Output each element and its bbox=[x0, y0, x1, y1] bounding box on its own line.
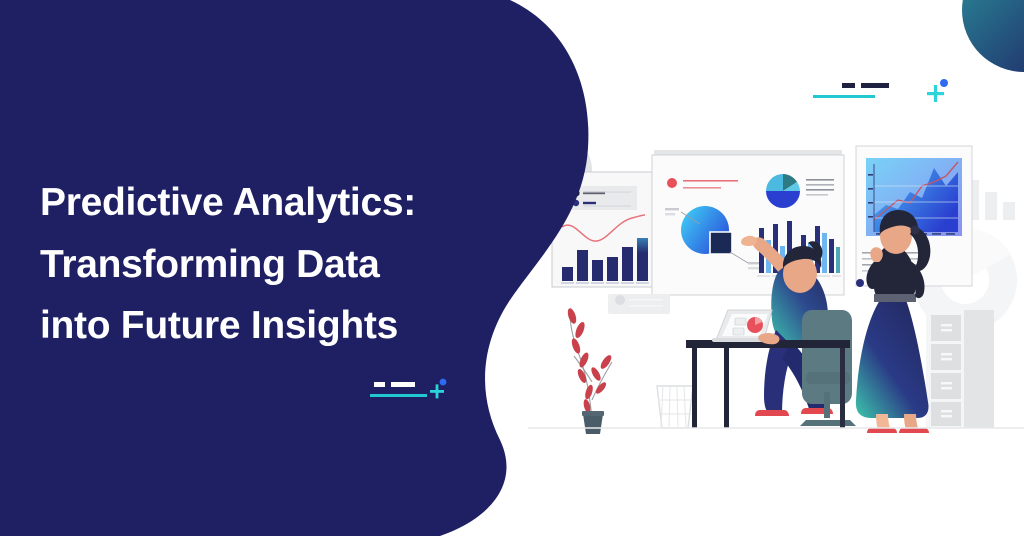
decoration-bottom-left bbox=[370, 379, 446, 399]
dot-icon bbox=[940, 79, 948, 87]
underline-icon bbox=[813, 95, 875, 98]
decoration-top-right bbox=[813, 79, 948, 102]
decoration-marks bbox=[0, 0, 1024, 536]
dash-short-icon bbox=[842, 83, 855, 88]
dash-long-icon bbox=[861, 83, 889, 88]
banner-root: Predictive Analytics: Transforming Data … bbox=[0, 0, 1024, 536]
plus-icon bbox=[430, 384, 444, 398]
dot-icon bbox=[440, 379, 447, 386]
plus-icon bbox=[927, 85, 944, 102]
dash-long-icon bbox=[391, 382, 415, 387]
dash-short-icon bbox=[374, 382, 385, 387]
underline-icon bbox=[370, 394, 427, 397]
